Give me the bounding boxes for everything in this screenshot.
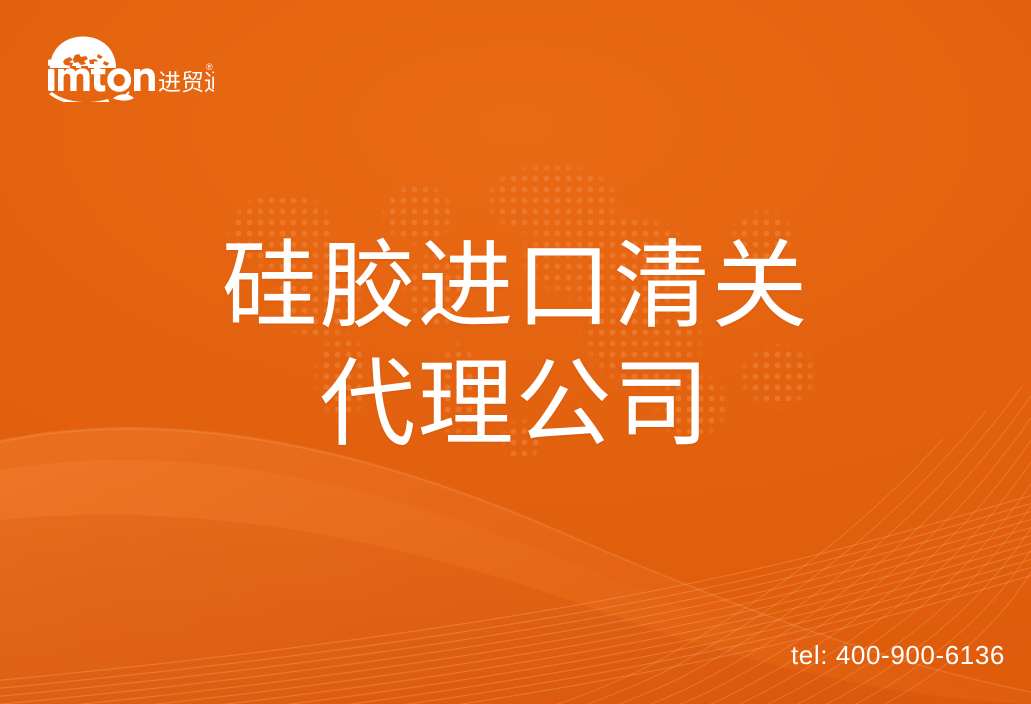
page-title: 硅胶进口清关 代理公司 — [0, 228, 1031, 464]
contact-phone[interactable]: tel: 400-900-6136 — [791, 640, 1005, 671]
airplane-icon — [49, 91, 134, 102]
promo-banner: 进贸通 ® 硅胶进口清关 代理公司 tel: 400-900-6136 — [0, 0, 1031, 704]
headline-line-1: 硅胶进口清关 — [0, 228, 1031, 346]
trademark-icon: ® — [206, 62, 213, 72]
logo-chinese-name: 进贸通 — [158, 70, 214, 96]
headline-line-2: 代理公司 — [0, 346, 1031, 464]
company-logo[interactable]: 进贸通 ® — [34, 26, 214, 102]
